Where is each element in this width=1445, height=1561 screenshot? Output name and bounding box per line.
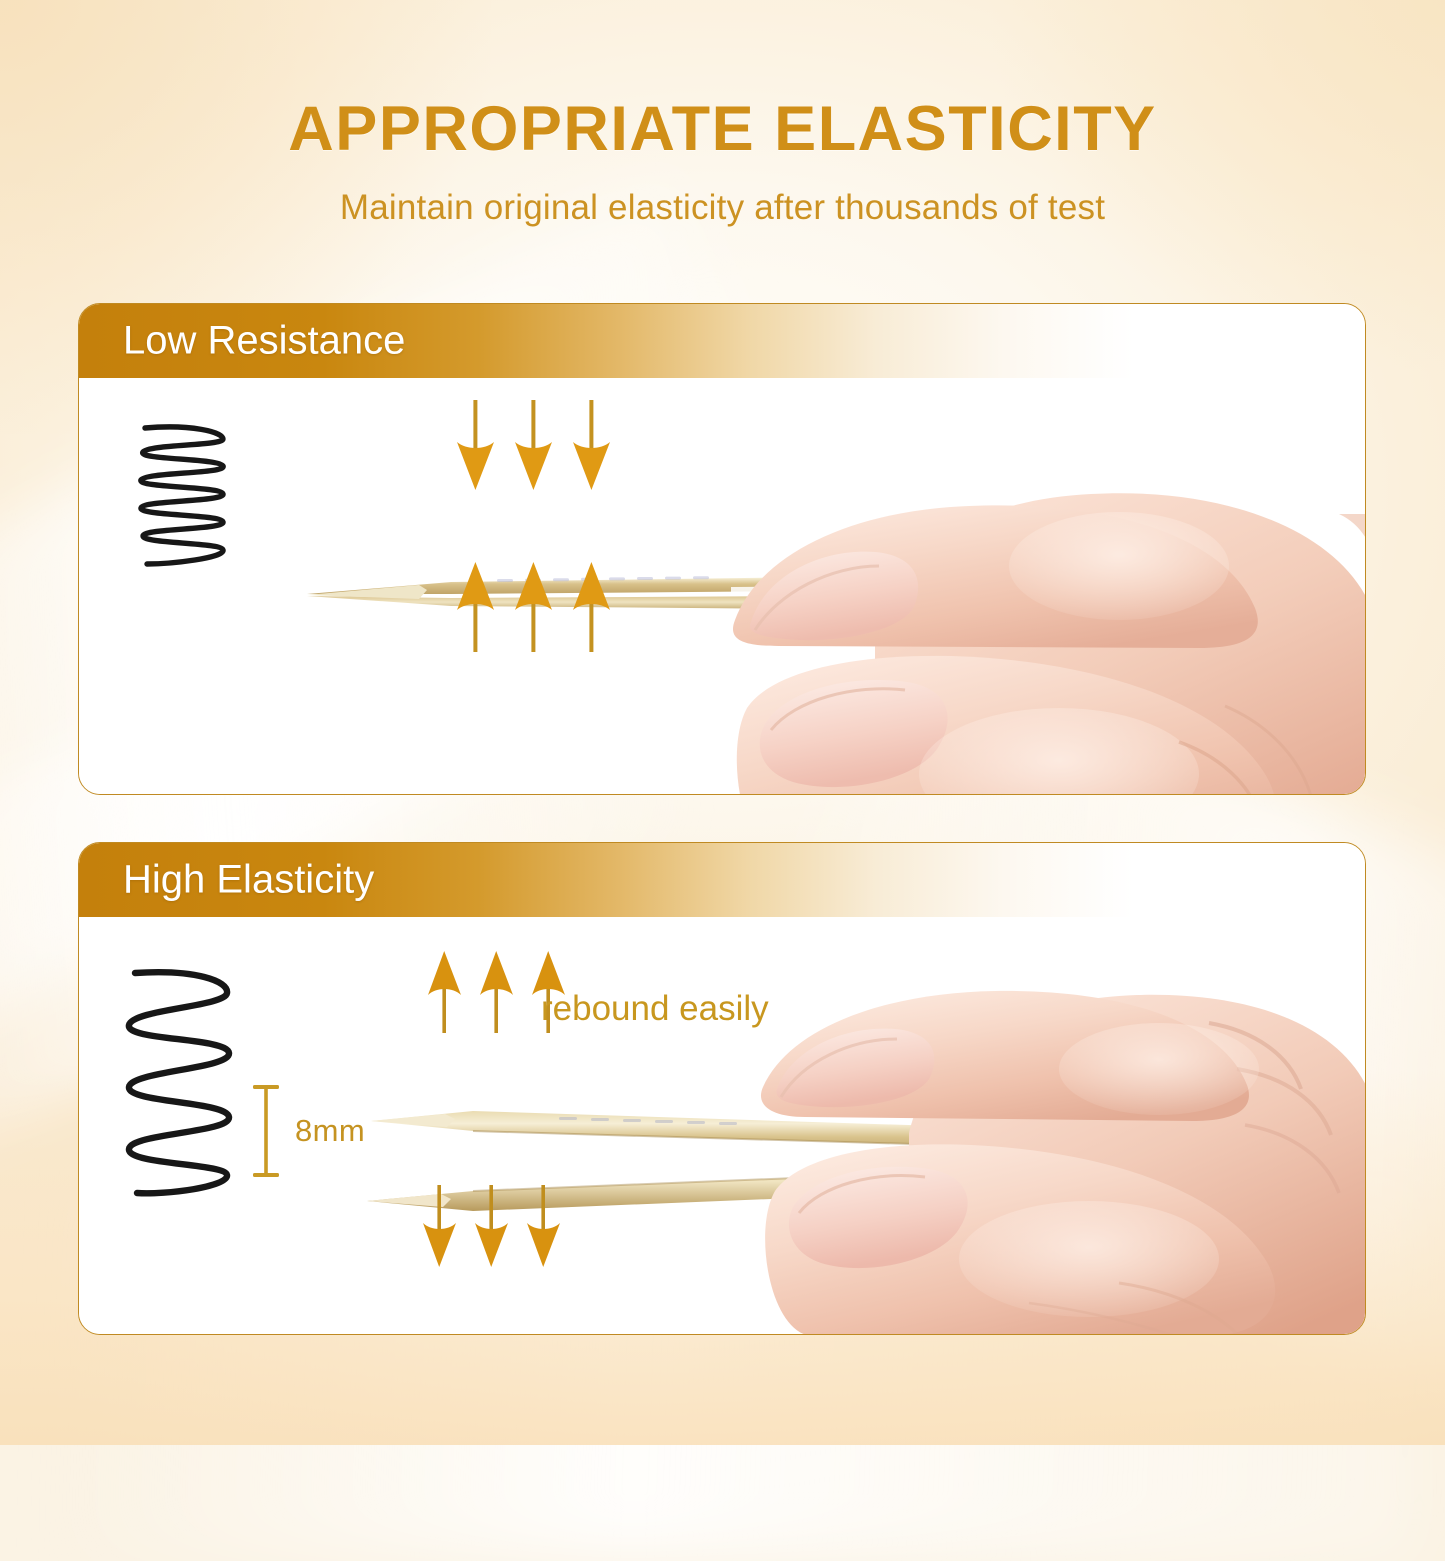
- hand-photo-high-elasticity: [689, 873, 1366, 1335]
- page-subtitle: Maintain original elasticity after thous…: [0, 188, 1445, 228]
- panel-header-label: Low Resistance: [123, 319, 405, 364]
- arrows-down-group: [447, 400, 621, 492]
- arrow-up-icon: [563, 560, 621, 652]
- arrow-down-icon: [466, 1185, 518, 1269]
- heading-block: APPROPRIATE ELASTICITY Maintain original…: [0, 96, 1445, 228]
- panel-body-high-elasticity: 8mm: [79, 917, 1365, 1334]
- compressed-spring-icon: [131, 422, 235, 570]
- arrow-down-icon: [414, 1185, 466, 1269]
- page-title: APPROPRIATE ELASTICITY: [0, 96, 1445, 162]
- hand-photo-low-resistance: [639, 304, 1366, 795]
- arrow-down-icon: [563, 400, 621, 492]
- panel-high-elasticity: High Elasticity 8mm: [78, 842, 1366, 1335]
- arrow-up-icon: [471, 949, 523, 1033]
- arrow-down-icon: [518, 1185, 570, 1269]
- arrows-up-group: [447, 560, 621, 652]
- expanded-spring-icon: [117, 967, 241, 1199]
- panel-body-low-resistance: [79, 378, 1365, 794]
- arrow-down-icon: [505, 400, 563, 492]
- arrow-down-icon: [447, 400, 505, 492]
- arrows-down-group: [414, 1185, 570, 1269]
- arrow-up-icon: [447, 560, 505, 652]
- arrow-up-icon: [419, 949, 471, 1033]
- panel-low-resistance: Low Resistance: [78, 303, 1366, 795]
- panel-header-label: High Elasticity: [123, 858, 374, 903]
- arrow-up-icon: [505, 560, 563, 652]
